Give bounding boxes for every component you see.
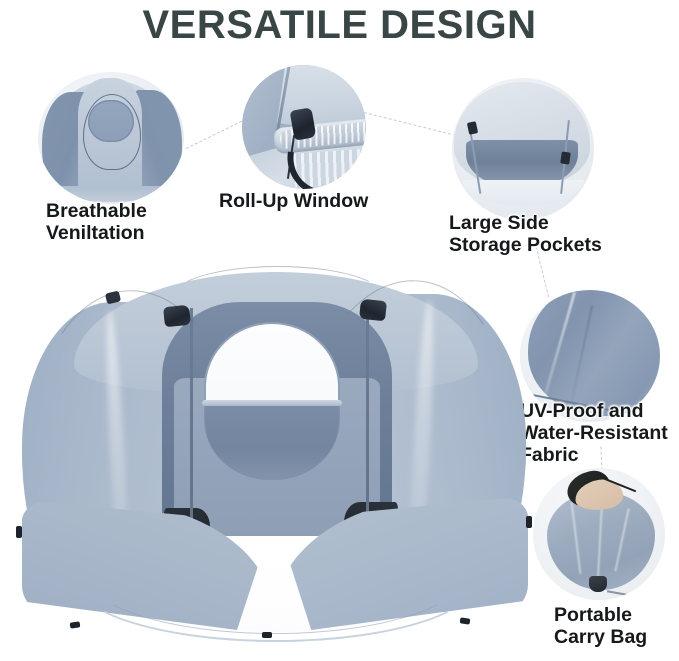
- tent-stake-loop: [526, 516, 532, 528]
- page-title: VERSATILE DESIGN: [0, 2, 679, 48]
- tent-stake-loop: [460, 617, 471, 624]
- main-tent-product-photo: [14, 250, 534, 650]
- tent-stake-loop: [16, 526, 22, 538]
- mesh-vent-panel: [88, 100, 134, 142]
- feature-label-breathable-ventilation: Breathable Veniltation: [46, 200, 147, 244]
- feature-label-uv-proof-water-resistant-fabric: UV-Proof and Water-Resistant Fabric: [520, 400, 668, 466]
- inset-breathable-ventilation: [38, 72, 184, 204]
- tent-clip-fitting-right-icon: [359, 299, 387, 322]
- tent-stake-loop: [262, 632, 272, 638]
- tent-hem-arc-inner: [84, 512, 466, 634]
- tent-clip-fitting-left-icon: [163, 305, 191, 328]
- drawstring-cinch: [589, 576, 607, 592]
- inset-roll-up-window: [242, 65, 366, 189]
- inset-large-side-storage-pockets: [452, 78, 594, 220]
- tent-stake-loop: [70, 621, 81, 628]
- inset-portable-carry-bag: [533, 468, 665, 600]
- clip-fitting-right-icon: [560, 151, 571, 164]
- feature-label-roll-up-window: Roll-Up Window: [219, 190, 368, 212]
- infographic-canvas: VERSATILE DESIGN Breathable Veniltation: [0, 0, 679, 661]
- feature-label-portable-carry-bag: Portable Carry Bag: [554, 604, 647, 648]
